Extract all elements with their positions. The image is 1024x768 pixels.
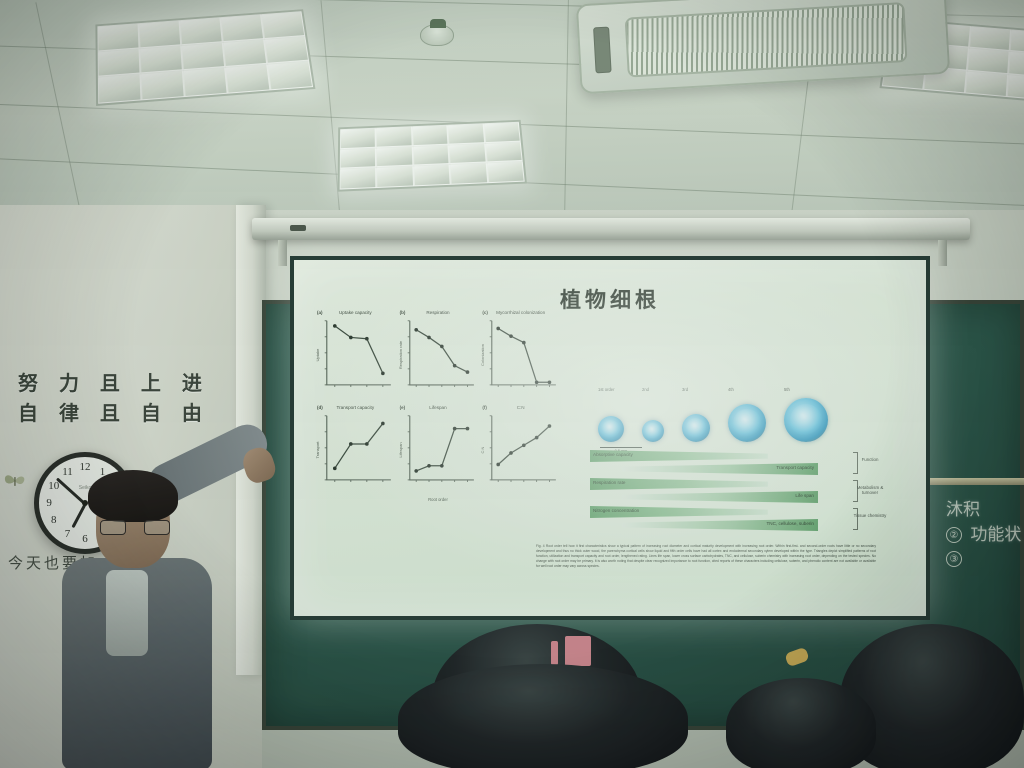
student-head <box>398 664 688 768</box>
root-cross-section-image <box>598 416 624 442</box>
screen-control-button[interactable] <box>290 225 306 231</box>
mini-chart-title: Lifespan <box>399 405 478 410</box>
chalk-line-3: ③ <box>946 547 1024 572</box>
trait-label-left: Respiration rate <box>593 480 625 485</box>
mini-chart-5: (e)LifespanLifespanRoot order <box>399 405 478 496</box>
root-image-label: 4th <box>728 387 734 392</box>
chalk-line-1: 沐积 <box>946 498 1024 523</box>
trait-label-right: Life span <box>795 493 814 498</box>
ac-grille <box>625 2 908 78</box>
trait-group-label: Metabolism & turnover <box>850 485 890 496</box>
root-image-label: 2nd <box>642 387 649 392</box>
trait-row: Nitrogen concentrationTNC, cellulose, su… <box>590 506 818 533</box>
root-cross-section-image <box>784 398 828 442</box>
butterfly-sticker-icon <box>2 472 28 490</box>
root-cross-section-image <box>728 404 766 442</box>
mini-chart-1: (a)Uptake capacityUptake <box>316 310 395 401</box>
mini-chart-2: (b)RespirationRespiration rate <box>399 310 478 401</box>
mini-chart-title: Transport capacity <box>316 405 395 410</box>
mini-chart-4: (d)Transport capacityTransport <box>316 405 395 496</box>
trait-row: Respiration rateLife spanMetabolism & tu… <box>590 478 818 505</box>
mini-chart-xlabel: Root order <box>399 497 478 502</box>
trait-label-right: Transport capacity <box>776 465 814 470</box>
figure-caption: Fig. 4 Root order tell how it first char… <box>536 544 876 569</box>
chart-panel-grid: (a)Uptake capacityUptake(b)RespirationRe… <box>316 310 560 495</box>
trait-gradient-diagram: Absorptive capacityTransport capacityFun… <box>590 450 818 536</box>
ceiling-light-fixture <box>95 9 315 106</box>
root-image-label: 5th <box>784 387 790 392</box>
mini-chart-title: C:N <box>481 405 560 410</box>
hair-clip <box>551 641 558 665</box>
mini-chart-ylabel: Colonization <box>480 344 485 366</box>
projection-screen: 植物细根 (a)Uptake capacityUptake(b)Respirat… <box>290 256 930 620</box>
root-cross-section-image <box>642 420 664 442</box>
screen-bracket-left <box>278 240 287 266</box>
root-cross-section-images: 0.5 mm 1st order2nd3rd4th5th <box>594 388 864 444</box>
teacher <box>44 420 264 768</box>
mini-chart-plot <box>489 413 559 483</box>
trait-group-label: Tissue chemistry <box>850 513 890 518</box>
mini-chart-ylabel: Transport <box>315 441 320 458</box>
trait-group-brace <box>853 452 858 474</box>
wall-slogan: 努 力 且 上 进 自 律 且 自 由 <box>18 368 228 428</box>
chalkboard-writing: 沐积 ② 功能状 ③ <box>946 498 1024 572</box>
trait-label-left: Absorptive capacity <box>593 452 633 457</box>
mini-chart-title: Mycorrhizal colonization <box>481 310 560 315</box>
trait-label-left: Nitrogen concentration <box>593 508 639 513</box>
mini-chart-3: (c)Mycorrhizal colonizationColonization <box>481 310 560 401</box>
trait-group-label: Function <box>850 457 890 462</box>
mini-chart-ylabel: Lifespan <box>398 442 403 457</box>
mini-chart-title: Respiration <box>399 310 478 315</box>
trait-group-brace <box>853 508 858 530</box>
ac-vane <box>593 27 612 74</box>
teacher-shirt <box>106 570 148 656</box>
chalk-line-2: ② 功能状 <box>946 523 1024 548</box>
mini-chart-title: Uptake capacity <box>316 310 395 315</box>
mini-chart-plot <box>324 318 394 388</box>
trait-row: Absorptive capacityTransport capacityFun… <box>590 450 818 477</box>
classroom-photo: 努 力 且 上 进 自 律 且 自 由 今天也要加 12 1 2 3 4 5 6… <box>0 0 1024 768</box>
root-image-label: 1st order <box>598 387 615 392</box>
mini-chart-plot <box>324 413 394 483</box>
chalk-rail <box>930 478 1024 485</box>
mini-chart-6: (f)C:NC:N <box>481 405 560 496</box>
root-image-label: 3rd <box>682 387 688 392</box>
smoke-detector-icon <box>420 24 454 46</box>
trait-label-right: TNC, cellulose, suberin <box>767 521 815 526</box>
projector-screen-housing <box>252 218 970 240</box>
student-head <box>726 678 876 768</box>
ceiling-light-fixture <box>338 120 527 192</box>
hair-clip <box>565 636 591 666</box>
mini-chart-plot <box>407 318 477 388</box>
chalk-circled-3: ③ <box>946 551 962 567</box>
screen-bracket-right <box>938 240 947 266</box>
root-cross-section-image <box>682 414 710 442</box>
mini-chart-ylabel: Uptake <box>315 349 320 362</box>
mini-chart-ylabel: C:N <box>480 446 485 453</box>
mini-chart-ylabel: Respiration rate <box>398 341 403 369</box>
chalk-circled-2: ② <box>946 527 962 543</box>
mini-chart-plot <box>489 318 559 388</box>
trait-wedge-right <box>622 491 818 503</box>
teacher-glasses-icon <box>100 520 170 536</box>
teacher-hair <box>88 470 178 522</box>
mini-chart-plot <box>407 413 477 483</box>
wall-slogan-line1: 努 力 且 上 进 <box>18 368 228 398</box>
